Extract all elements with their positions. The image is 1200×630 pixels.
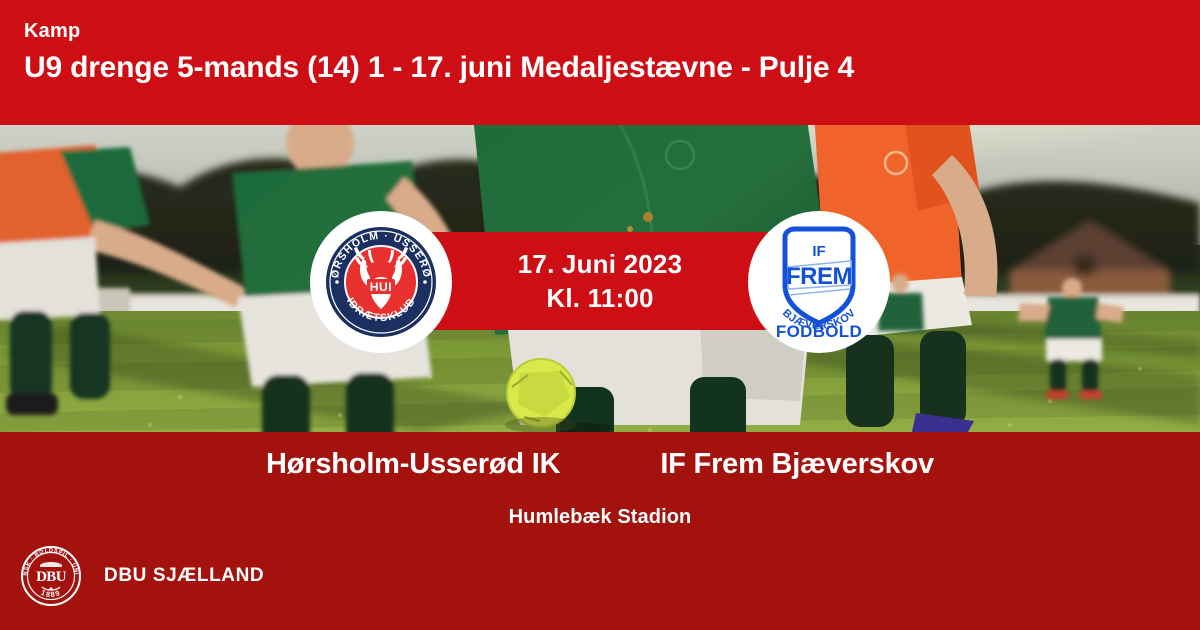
- hui-crest-icon: HØRSHOLM · USSERØD IDRÆTSKLUB HUI: [322, 223, 440, 341]
- svg-text:DBU: DBU: [36, 569, 67, 585]
- svg-text:HUI: HUI: [370, 280, 392, 294]
- svg-text:FODBOLD: FODBOLD: [776, 322, 862, 341]
- away-team-badge: IF FREM BJÆVERSKOV FODBOLD: [748, 211, 890, 353]
- svg-text:FREM: FREM: [786, 263, 852, 290]
- home-team-name: Hørsholm-Usserød IK: [266, 448, 560, 481]
- poster-header: Kamp U9 drenge 5-mands (14) 1 - 17. juni…: [0, 0, 1200, 125]
- match-datetime-banner: 17. Juni 2023 Kl. 11:00: [430, 232, 770, 330]
- footer-branding: DANSK · BOLDSPIL · UNION 1889 DBU DBU SJ…: [20, 545, 264, 607]
- header-eyebrow: Kamp: [24, 18, 1176, 44]
- match-time: Kl. 11:00: [546, 281, 653, 315]
- frem-shield-icon: IF FREM BJÆVERSKOV FODBOLD: [761, 223, 877, 341]
- svg-text:IF: IF: [812, 243, 825, 260]
- venue-name: Humlebæk Stadion: [0, 506, 1200, 529]
- match-date: 17. Juni 2023: [518, 247, 682, 281]
- home-team-badge: HØRSHOLM · USSERØD IDRÆTSKLUB HUI: [310, 211, 452, 353]
- team-names-row: Hørsholm-Usserød IK IF Frem Bjæverskov: [0, 448, 1200, 481]
- away-team-name: IF Frem Bjæverskov: [660, 448, 934, 481]
- page-title: U9 drenge 5-mands (14) 1 - 17. juni Meda…: [24, 48, 1176, 88]
- match-poster: Kamp U9 drenge 5-mands (14) 1 - 17. juni…: [0, 0, 1200, 630]
- footer-label: DBU SJÆLLAND: [104, 565, 264, 587]
- dbu-union-badge-icon: DANSK · BOLDSPIL · UNION 1889 DBU: [20, 545, 82, 607]
